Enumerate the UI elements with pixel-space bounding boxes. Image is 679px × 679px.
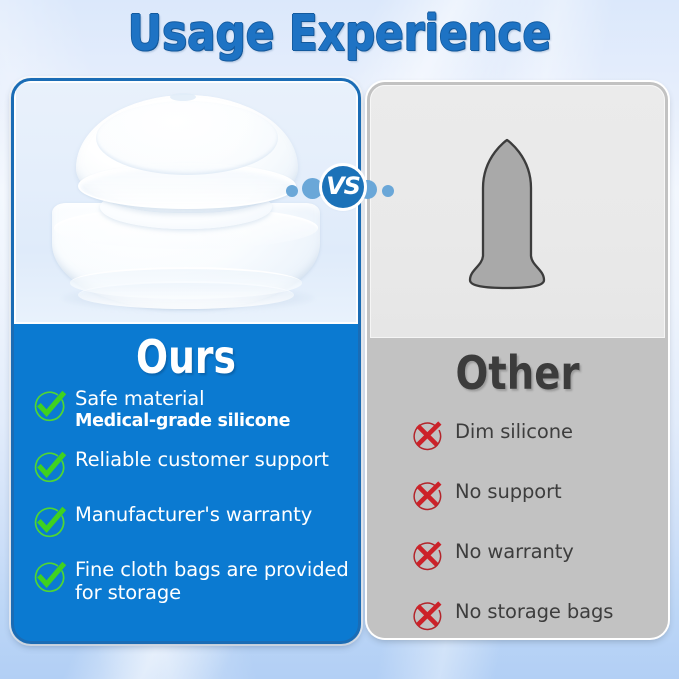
list-item: No support — [411, 480, 661, 512]
list-item-text: Manufacturer's warranty — [75, 503, 312, 526]
list-item-text: Reliable customer support — [75, 448, 329, 471]
ours-heading: Ours — [45, 331, 327, 383]
cup-dome-highlight — [96, 101, 278, 175]
gray-cup-silhouette — [442, 130, 572, 290]
other-panel: Other Dim silicone — [367, 82, 668, 638]
other-product-photo — [370, 85, 665, 338]
green-check-icon — [32, 389, 66, 423]
cup-base-ring-lower — [78, 281, 294, 309]
ours-panel: Ours Safe material Medical-grade silicon… — [11, 78, 361, 644]
list-item-text: Safe material Medical-grade silicone — [75, 387, 290, 432]
green-check-icon — [32, 450, 66, 484]
red-cross-icon — [411, 420, 443, 452]
list-item-text: No warranty — [455, 540, 574, 564]
list-item: Reliable customer support — [32, 448, 350, 484]
list-item: Dim silicone — [411, 420, 661, 452]
red-cross-icon — [411, 600, 443, 632]
list-item-label: Safe material — [75, 387, 204, 410]
other-heading: Other — [391, 347, 644, 399]
versus-cluster: VS — [286, 170, 394, 212]
list-item: No warranty — [411, 540, 661, 572]
cup-waist — [100, 185, 272, 229]
list-item-text: No support — [455, 480, 562, 504]
cup-dome — [76, 95, 298, 213]
infographic-canvas: Usage Experience Ours — [0, 0, 679, 679]
other-feature-list: Dim silicone No support — [411, 420, 661, 638]
page-title: Usage Experience — [48, 3, 632, 65]
decorative-dot — [302, 178, 323, 199]
versus-label: VS — [326, 174, 360, 198]
ours-feature-list: Safe material Medical-grade silicone Rel… — [32, 387, 350, 620]
cup-base-ring-mid — [70, 267, 302, 299]
list-item: Manufacturer's warranty — [32, 503, 350, 539]
list-item: Fine cloth bags are provided for storage — [32, 558, 350, 604]
cup-dome-lip — [78, 163, 296, 209]
decorative-dot — [286, 185, 298, 197]
cup-base — [52, 203, 320, 309]
list-item: No storage bags — [411, 600, 661, 632]
list-item: Safe material Medical-grade silicone — [32, 387, 350, 432]
list-item-text: Dim silicone — [455, 420, 573, 444]
green-check-icon — [32, 560, 66, 594]
list-item-text: Fine cloth bags are provided for storage — [75, 558, 350, 604]
list-item-text: No storage bags — [455, 600, 613, 624]
versus-badge: VS — [322, 166, 364, 208]
cup-dome-notch — [170, 93, 196, 101]
green-check-icon — [32, 505, 66, 539]
decorative-dot — [382, 185, 394, 197]
red-cross-icon — [411, 540, 443, 572]
cup-base-ring-upper — [54, 207, 318, 249]
cup-shadow — [62, 285, 314, 311]
red-cross-icon — [411, 480, 443, 512]
list-item-sublabel: Medical-grade silicone — [75, 410, 290, 432]
